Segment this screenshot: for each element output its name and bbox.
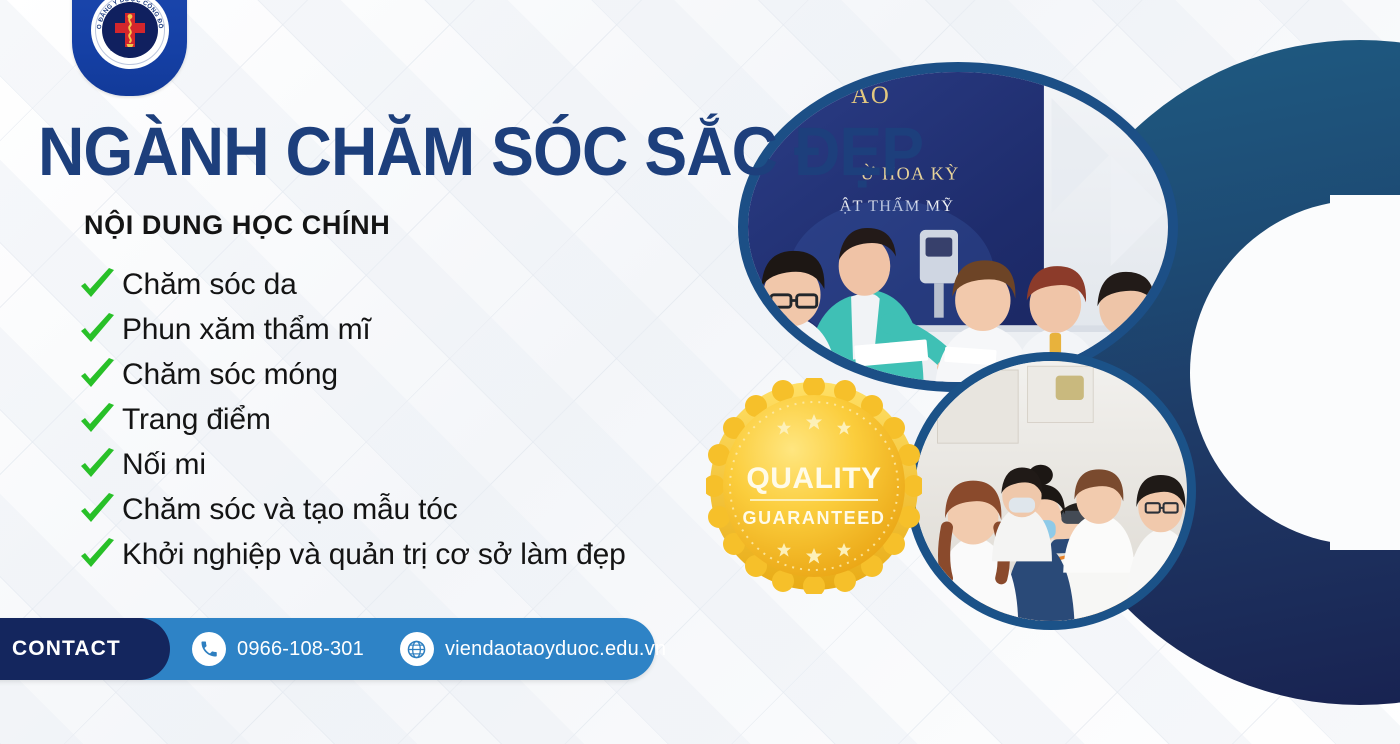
curriculum-checklist: Chăm sóc da Phun xăm thẩm mĩ Chăm sóc mó… <box>78 262 718 577</box>
list-item: Chăm sóc móng <box>78 352 718 397</box>
list-item-label: Chăm sóc và tạo mẫu tóc <box>122 495 458 525</box>
check-icon <box>78 401 118 439</box>
check-icon <box>78 356 118 394</box>
beauty-care-program-banner: CAO ĐẲNG Y DƯỢC CỘNG ĐỒNG Community Medi… <box>0 0 1400 744</box>
list-item: Chăm sóc da <box>78 262 718 307</box>
beauty-treatment-demo-photo <box>906 352 1196 630</box>
phone-icon <box>192 632 226 666</box>
check-icon <box>78 491 118 529</box>
contact-tag: CONTACT <box>0 618 170 680</box>
list-item-label: Chăm sóc móng <box>122 360 338 390</box>
svg-text:ÀO: ÀO <box>851 81 891 109</box>
check-icon <box>78 446 118 484</box>
list-item: Khởi nghiệp và quản trị cơ sở làm đẹp <box>78 532 718 577</box>
list-item-label: Phun xăm thẩm mĩ <box>122 315 371 345</box>
medical-cross-caduceus-icon <box>107 7 153 53</box>
logo-emblem <box>102 2 158 58</box>
headline-title: NGÀNH CHĂM SÓC SẮC ĐẸP <box>38 118 923 186</box>
list-item-label: Chăm sóc da <box>122 270 297 300</box>
badge-line2: GUARANTEED <box>742 508 885 528</box>
check-icon <box>78 311 118 349</box>
quality-guaranteed-badge: QUALITY GUARANTEED <box>706 378 922 594</box>
contact-phone[interactable]: 0966-108-301 <box>192 632 364 666</box>
headline-subtitle: NỘI DUNG HỌC CHÍNH <box>84 210 390 241</box>
list-item-label: Khởi nghiệp và quản trị cơ sở làm đẹp <box>122 540 626 570</box>
globe-icon <box>400 632 434 666</box>
contact-website-value: viendaotaoyduoc.edu.vn <box>445 638 666 661</box>
list-item: Phun xăm thẩm mĩ <box>78 307 718 352</box>
badge-line1: QUALITY <box>746 462 881 495</box>
check-icon <box>78 266 118 304</box>
logo-seal: CAO ĐẲNG Y DƯỢC CỘNG ĐỒNG Community Medi… <box>91 0 169 69</box>
contact-bar: CONTACT 0966-108-301 viendaotaoyduoc.edu… <box>0 618 655 680</box>
page-title: NGÀNH CHĂM SÓC SẮC ĐẸP <box>38 118 990 186</box>
training-classroom-photo: ÀO Ừ HOA KỲ ẬT THẨM MỸ <box>738 62 1178 392</box>
list-item: Trang điểm <box>78 397 718 442</box>
check-icon <box>78 536 118 574</box>
contact-phone-value: 0966-108-301 <box>237 638 364 661</box>
list-item-label: Trang điểm <box>122 405 271 435</box>
list-item-label: Nối mi <box>122 450 206 480</box>
contact-website[interactable]: viendaotaoyduoc.edu.vn <box>400 632 666 666</box>
list-item: Nối mi <box>78 442 718 487</box>
list-item: Chăm sóc và tạo mẫu tóc <box>78 487 718 532</box>
